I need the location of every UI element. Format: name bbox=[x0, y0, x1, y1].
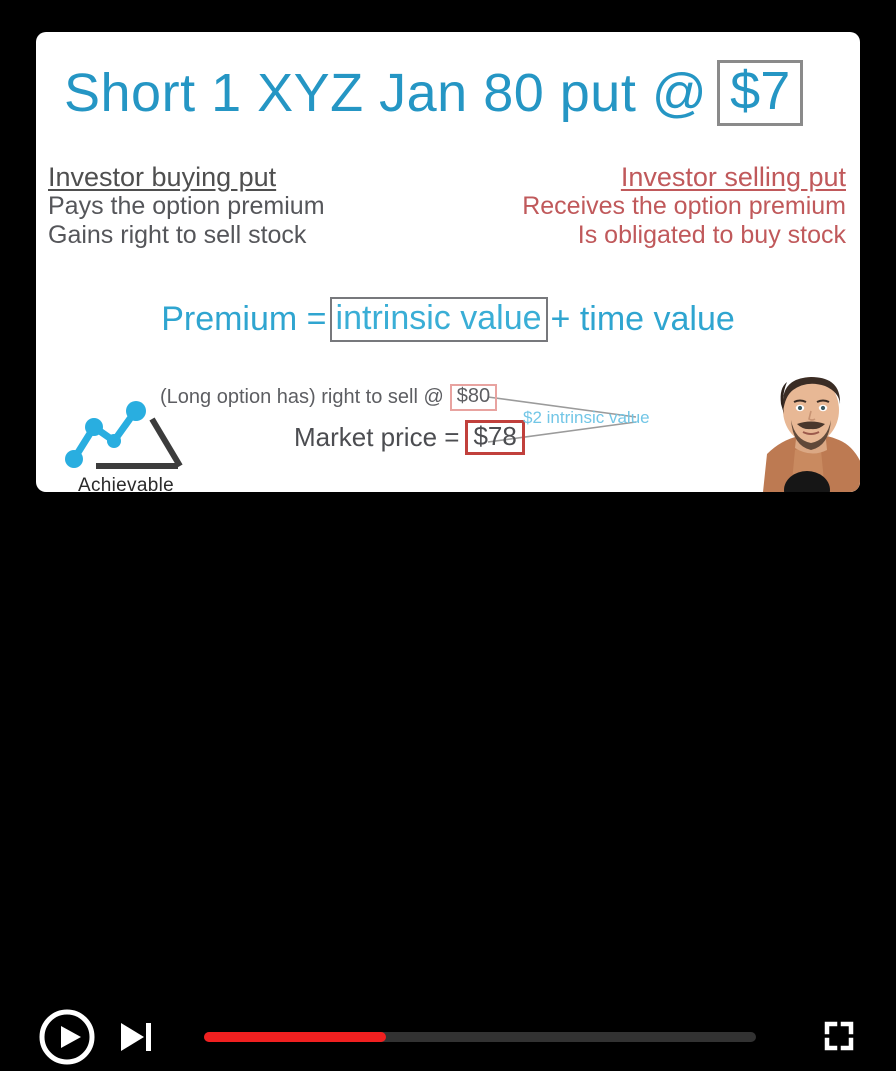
example-strike-value: $80 bbox=[450, 384, 497, 411]
premium-equation-boxed-term: intrinsic value bbox=[330, 297, 548, 342]
example-line2-label: Market price = bbox=[294, 422, 459, 453]
achievable-logo-mark bbox=[56, 387, 196, 482]
seller-column: Investor selling put Receives the option… bbox=[436, 162, 846, 249]
premium-equation-trail: + time value bbox=[551, 302, 735, 336]
intrinsic-value-callout: $2 intrinsic value bbox=[523, 408, 650, 428]
skip-next-icon bbox=[113, 1015, 157, 1059]
example-market-value: $78 bbox=[465, 420, 524, 455]
progress-bar[interactable] bbox=[204, 1032, 756, 1042]
seller-line-2: Is obligated to buy stock bbox=[436, 221, 846, 250]
seller-line-1: Receives the option premium bbox=[436, 192, 846, 221]
achievable-logo: Achievable bbox=[56, 387, 196, 492]
example-line1-label: (Long option has) right to sell @ bbox=[160, 386, 444, 409]
slide-title: Short 1 XYZ Jan 80 put @ $7 bbox=[64, 54, 840, 132]
fullscreen-icon bbox=[818, 1015, 860, 1057]
video-player: Short 1 XYZ Jan 80 put @ $7 Investor buy… bbox=[0, 0, 896, 603]
buyer-line-1: Pays the option premium bbox=[48, 192, 438, 221]
buyer-column: Investor buying put Pays the option prem… bbox=[48, 162, 438, 249]
presenter-video bbox=[721, 370, 860, 492]
seller-heading: Investor selling put bbox=[436, 162, 846, 192]
example-line-market-price: Market price = $78 bbox=[294, 420, 525, 455]
next-button[interactable] bbox=[113, 1015, 157, 1059]
player-controls bbox=[0, 496, 896, 603]
fullscreen-button[interactable] bbox=[818, 1015, 860, 1057]
premium-equation-lead: Premium = bbox=[161, 302, 326, 336]
example-line-right-to-sell: (Long option has) right to sell @ $80 bbox=[160, 384, 497, 411]
play-button[interactable] bbox=[38, 1008, 96, 1066]
achievable-wordmark: Achievable bbox=[56, 475, 196, 492]
slide-title-text: Short 1 XYZ Jan 80 put @ bbox=[64, 66, 707, 120]
buyer-heading: Investor buying put bbox=[48, 162, 438, 192]
slide-canvas: Short 1 XYZ Jan 80 put @ $7 Investor buy… bbox=[36, 32, 860, 492]
presenter-figure-icon bbox=[721, 370, 860, 492]
buyer-line-2: Gains right to sell stock bbox=[48, 221, 438, 250]
play-icon bbox=[38, 1008, 96, 1066]
progress-bar-fill bbox=[204, 1032, 386, 1042]
slide-title-boxed-price: $7 bbox=[717, 60, 803, 126]
premium-equation: Premium = intrinsic value + time value bbox=[36, 297, 860, 342]
